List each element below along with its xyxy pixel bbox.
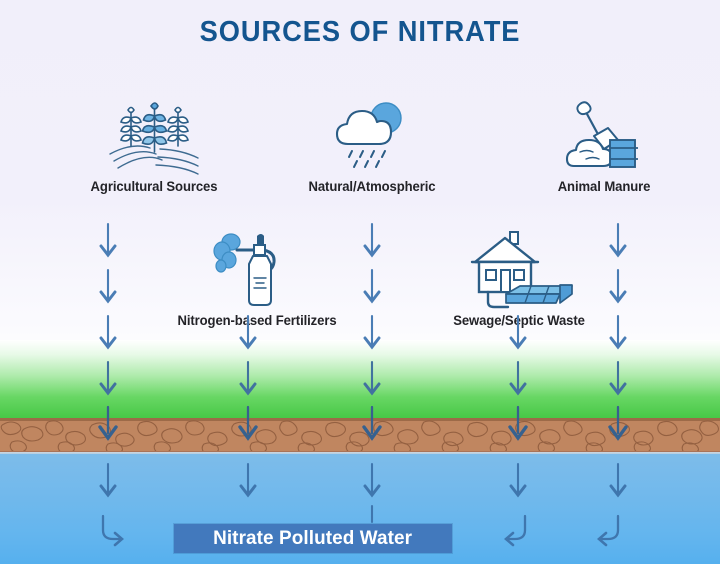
flow-arrow-down xyxy=(359,360,385,400)
flow-arrow-down xyxy=(359,222,385,262)
flow-arrow-down-water xyxy=(359,462,385,502)
flow-arrow-down-water xyxy=(605,462,631,502)
source-label-natural: Natural/Atmospheric xyxy=(258,179,487,194)
flow-arrow-down xyxy=(235,360,261,400)
manure-shovel-icon xyxy=(554,96,654,176)
flow-arrow-down-water xyxy=(95,462,121,502)
flow-arrow-down-soil xyxy=(95,405,121,445)
flow-arrow-down xyxy=(505,360,531,400)
flow-arrow-down-water xyxy=(505,462,531,502)
flow-arrow-down xyxy=(605,314,631,354)
flow-arrow-down-soil xyxy=(359,405,385,445)
flow-arrow-down xyxy=(95,314,121,354)
spray-bottle-icon xyxy=(207,228,307,310)
wheat-field-icon xyxy=(104,96,204,176)
flow-arrow-down xyxy=(605,268,631,308)
flow-arrow-down xyxy=(505,314,531,354)
flow-arrow-down xyxy=(359,268,385,308)
flow-arrow-down xyxy=(95,222,121,262)
flow-arrow-curve-right xyxy=(94,512,128,550)
source-label-agricultural: Agricultural Sources xyxy=(22,179,286,194)
infographic-canvas: SOURCES OF NITRATE xyxy=(0,0,720,564)
flow-arrow-down xyxy=(605,360,631,400)
house-septic-tank-icon xyxy=(461,228,577,310)
result-banner-label: Nitrate Polluted Water xyxy=(213,527,412,550)
source-agricultural[interactable]: Agricultural Sources xyxy=(18,96,290,194)
source-natural-atmospheric[interactable]: Natural/Atmospheric xyxy=(254,96,490,194)
page-title: SOURCES OF NITRATE xyxy=(22,16,699,49)
flow-arrow-down xyxy=(95,268,121,308)
flow-arrow-curve-left xyxy=(593,512,627,550)
flow-arrow-down-soil xyxy=(605,405,631,445)
flow-arrow-curve-left xyxy=(500,512,534,550)
source-animal-manure[interactable]: Animal Manure xyxy=(498,96,710,194)
flow-arrow-down xyxy=(235,314,261,354)
rain-cloud-icon xyxy=(322,96,422,176)
flow-arrow-down xyxy=(605,222,631,262)
flow-arrow-down xyxy=(359,314,385,354)
flow-arrow-down xyxy=(95,360,121,400)
flow-arrow-down-soil xyxy=(235,405,261,445)
result-banner: Nitrate Polluted Water xyxy=(174,524,452,553)
flow-arrow-down-water xyxy=(235,462,261,502)
source-label-manure: Animal Manure xyxy=(501,179,707,194)
flow-arrow-down-soil xyxy=(505,405,531,445)
